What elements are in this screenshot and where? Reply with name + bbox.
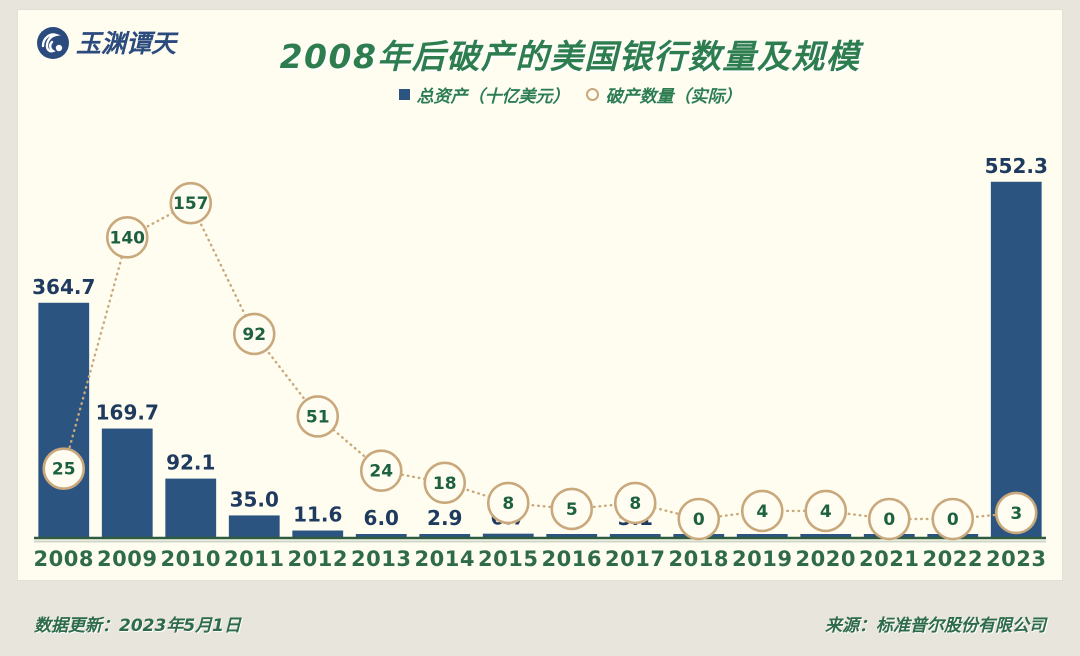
chart-legend: 总资产（十亿美元） 破产数量（实际）	[18, 82, 1062, 107]
marker-2011[interactable]: 92	[234, 314, 274, 354]
marker-value-label-2017: 8	[629, 494, 641, 514]
marker-2023[interactable]: 3	[996, 493, 1036, 533]
marker-value-label-2011: 92	[242, 325, 266, 345]
marker-value-label-2009: 140	[110, 228, 146, 248]
x-tick-2014: 2014	[413, 547, 477, 577]
bar-value-label-2008: 364.7	[32, 275, 95, 299]
legend-item-label: 破产数量（实际）	[606, 82, 742, 107]
x-tick-2020: 2020	[794, 547, 858, 577]
bar-value-label-2011: 35.0	[230, 487, 279, 511]
data-update-label: 数据更新：2023年5月1日	[34, 611, 241, 636]
x-tick-2013: 2013	[350, 547, 414, 577]
x-tick-2019: 2019	[731, 547, 795, 577]
marker-value-label-2019: 4	[756, 502, 768, 522]
chart-card: 玉渊谭天 2008年后破产的美国银行数量及规模 总资产（十亿美元） 破产数量（实…	[18, 10, 1062, 580]
marker-value-label-2023: 3	[1010, 504, 1022, 524]
chart-svg: 364.7169.792.135.011.66.02.96.70.35.10.0…	[32, 115, 1048, 540]
bar-value-label-2010: 92.1	[166, 451, 215, 475]
marker-2020[interactable]: 4	[806, 491, 846, 531]
legend-item-label: 总资产（十亿美元）	[417, 82, 570, 107]
marker-value-label-2016: 5	[566, 500, 578, 520]
marker-2013[interactable]: 24	[361, 451, 401, 491]
x-tick-2022: 2022	[921, 547, 985, 577]
legend-circle-icon	[586, 88, 599, 101]
marker-value-label-2018: 0	[693, 510, 705, 530]
x-axis-tick-labels: 2008200920102011201220132014201520162017…	[32, 547, 1048, 577]
legend-square-icon	[399, 89, 410, 100]
marker-2019[interactable]: 4	[742, 491, 782, 531]
bar-value-label-2009: 169.7	[96, 401, 159, 425]
marker-value-label-2014: 18	[433, 474, 457, 494]
marker-2017[interactable]: 8	[615, 483, 655, 523]
marker-2010[interactable]: 157	[171, 183, 211, 223]
chart-footer: 数据更新：2023年5月1日 来源：标准普尔股份有限公司	[0, 590, 1080, 656]
x-tick-2023: 2023	[985, 547, 1049, 577]
bar-2008[interactable]	[38, 303, 89, 538]
x-tick-2018: 2018	[667, 547, 731, 577]
chart-header: 玉渊谭天 2008年后破产的美国银行数量及规模 总资产（十亿美元） 破产数量（实…	[18, 10, 1062, 115]
legend-item-failure-count[interactable]: 破产数量（实际）	[586, 82, 742, 107]
bar-value-label-2014: 2.9	[427, 506, 462, 530]
marker-2014[interactable]: 18	[425, 463, 465, 503]
bar-2010[interactable]	[165, 479, 216, 538]
bar-value-label-2012: 11.6	[293, 503, 342, 527]
bar-2023[interactable]	[991, 182, 1042, 538]
marker-value-label-2012: 51	[306, 407, 330, 427]
x-tick-2011: 2011	[223, 547, 287, 577]
marker-2022[interactable]: 0	[933, 499, 973, 539]
bar-value-label-2023: 552.3	[985, 154, 1048, 178]
x-tick-2017: 2017	[604, 547, 668, 577]
x-tick-2008: 2008	[32, 547, 96, 577]
marker-value-label-2008: 25	[52, 460, 76, 480]
x-tick-2015: 2015	[477, 547, 541, 577]
chart-plot-area: 364.7169.792.135.011.66.02.96.70.35.10.0…	[32, 115, 1048, 540]
marker-2008[interactable]: 25	[44, 449, 84, 489]
marker-2016[interactable]: 5	[552, 489, 592, 529]
bar-value-label-2013: 6.0	[364, 506, 399, 530]
marker-value-label-2020: 4	[820, 502, 832, 522]
marker-value-label-2010: 157	[173, 194, 209, 214]
x-tick-2021: 2021	[858, 547, 922, 577]
marker-2021[interactable]: 0	[869, 499, 909, 539]
marker-2012[interactable]: 51	[298, 396, 338, 436]
bar-2011[interactable]	[229, 515, 280, 538]
marker-value-label-2021: 0	[883, 510, 895, 530]
x-tick-2012: 2012	[286, 547, 350, 577]
marker-2018[interactable]: 0	[679, 499, 719, 539]
marker-2015[interactable]: 8	[488, 483, 528, 523]
x-tick-2016: 2016	[540, 547, 604, 577]
marker-2009[interactable]: 140	[107, 217, 147, 257]
data-source-label: 来源：标准普尔股份有限公司	[825, 611, 1046, 636]
marker-value-label-2015: 8	[502, 494, 514, 514]
legend-item-total-assets[interactable]: 总资产（十亿美元）	[399, 82, 570, 107]
bar-2009[interactable]	[102, 429, 153, 538]
page-title: 2008年后破产的美国银行数量及规模	[18, 30, 1062, 78]
x-tick-2009: 2009	[96, 547, 160, 577]
marker-value-label-2022: 0	[947, 510, 959, 530]
x-tick-2010: 2010	[159, 547, 223, 577]
marker-value-label-2013: 24	[369, 462, 393, 482]
